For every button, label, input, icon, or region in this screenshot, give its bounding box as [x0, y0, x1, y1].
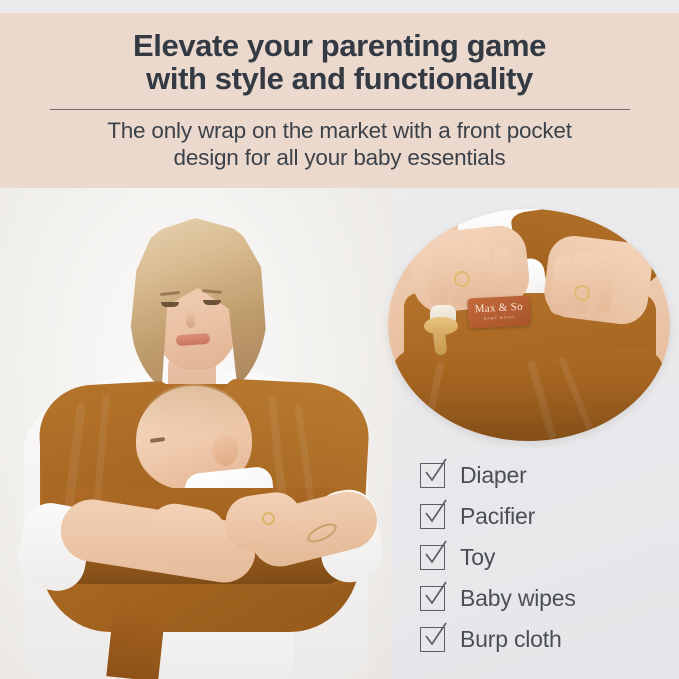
ring-icon: [262, 512, 275, 525]
page-title: Elevate your parenting game with style a…: [0, 29, 679, 95]
mother-eye-left: [161, 302, 179, 307]
inset-finger: [591, 253, 612, 314]
ring-icon: [454, 271, 470, 287]
hero-photo: Max & So BABY WRAP: [0, 188, 392, 679]
mother-lips: [176, 333, 211, 346]
page-subtitle: The only wrap on the market with a front…: [0, 117, 679, 171]
headline-line-2: with style and functionality: [0, 62, 679, 95]
list-item: Toy: [420, 537, 670, 578]
baby-ear: [212, 434, 238, 466]
list-item-label: Burp cloth: [460, 626, 562, 653]
top-edge-strip: [0, 0, 679, 13]
essentials-checklist: Diaper Pacifier Toy: [420, 455, 670, 660]
header-divider: [50, 109, 630, 110]
brand-label-tagline: BABY WRAP: [468, 314, 530, 321]
checkbox-checked-icon: [420, 463, 445, 488]
subhead-line-2: design for all your baby essentials: [0, 144, 679, 171]
list-item-label: Pacifier: [460, 503, 535, 530]
brand-leather-label: Max & So BABY WRAP: [467, 295, 530, 328]
product-feature-graphic: Elevate your parenting game with style a…: [0, 0, 679, 679]
list-item: Burp cloth: [420, 619, 670, 660]
inset-finger: [470, 243, 490, 305]
list-item-label: Toy: [460, 544, 495, 571]
list-item-label: Baby wipes: [460, 585, 576, 612]
mother-nose: [186, 310, 195, 328]
checkbox-checked-icon: [420, 545, 445, 570]
headline-line-1: Elevate your parenting game: [133, 28, 546, 63]
header-band: Elevate your parenting game with style a…: [0, 13, 679, 188]
list-item: Diaper: [420, 455, 670, 496]
list-item: Pacifier: [420, 496, 670, 537]
baby-wrap-tail: [106, 603, 165, 679]
checkbox-checked-icon: [420, 586, 445, 611]
checkbox-checked-icon: [420, 627, 445, 652]
mother-eye-right: [203, 300, 221, 305]
brand-label-name: Max & So: [468, 300, 531, 315]
list-item: Baby wipes: [420, 578, 670, 619]
ring-icon: [574, 285, 590, 301]
subhead-line-1: The only wrap on the market with a front…: [107, 118, 572, 143]
list-item-label: Diaper: [460, 462, 527, 489]
checkbox-checked-icon: [420, 504, 445, 529]
pocket-closeup-inset: Max & So BABY WRAP: [388, 209, 670, 441]
